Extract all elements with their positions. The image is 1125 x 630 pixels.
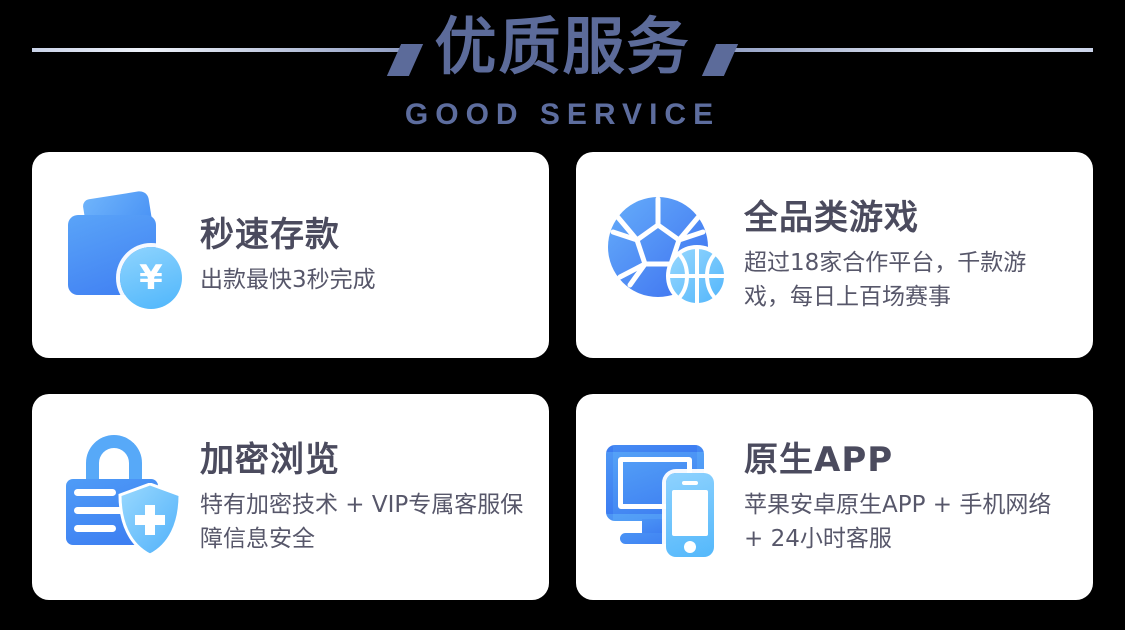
feature-card-encrypted-browsing[interactable]: 加密浏览 特有加密技术 + VIP专属客服保障信息安全	[32, 394, 549, 600]
card-text-block: 秒速存款 出款最快3秒完成	[200, 213, 527, 297]
card-title: 全品类游戏	[744, 196, 1071, 240]
good-service-panel: 优质服务 GOOD SERVICE ¥ 秒速存款 出款最快3秒完成	[0, 0, 1125, 630]
feature-card-grid: ¥ 秒速存款 出款最快3秒完成	[32, 152, 1093, 600]
card-description: 苹果安卓原生APP + 手机网络 + 24小时客服	[744, 488, 1071, 556]
soccer-ball-icon	[604, 189, 736, 321]
card-title: 秒速存款	[200, 213, 527, 257]
yen-coin-icon: ¥	[120, 247, 182, 309]
phone-speaker-shape	[682, 481, 698, 485]
card-description: 特有加密技术 + VIP专属客服保障信息安全	[200, 488, 527, 556]
smartphone-shape	[666, 473, 714, 557]
page-subtitle: GOOD SERVICE	[0, 98, 1125, 132]
phone-home-button-shape	[684, 541, 696, 553]
header: 优质服务 GOOD SERVICE	[0, 0, 1125, 148]
card-text-block: 全品类游戏 超过18家合作平台，千款游戏，每日上百场赛事	[744, 196, 1071, 314]
card-text-block: 原生APP 苹果安卓原生APP + 手机网络 + 24小时客服	[744, 438, 1071, 556]
lock-slot-line	[74, 489, 116, 496]
basketball-shape	[666, 245, 728, 307]
yen-symbol: ¥	[139, 261, 163, 295]
monitor-phone-icon	[604, 431, 736, 563]
card-text-block: 加密浏览 特有加密技术 + VIP专属客服保障信息安全	[200, 438, 527, 556]
card-title: 原生APP	[744, 438, 1071, 482]
phone-screen-shape	[672, 490, 708, 536]
lock-shield-icon	[60, 431, 192, 563]
lock-slot-line	[74, 525, 116, 532]
feature-card-all-games[interactable]: 全品类游戏 超过18家合作平台，千款游戏，每日上百场赛事	[576, 152, 1093, 358]
card-description: 超过18家合作平台，千款游戏，每日上百场赛事	[744, 246, 1071, 314]
card-description: 出款最快3秒完成	[200, 263, 527, 297]
feature-card-instant-deposit[interactable]: ¥ 秒速存款 出款最快3秒完成	[32, 152, 549, 358]
page-title: 优质服务	[0, 6, 1125, 88]
shield-cross-icon	[118, 483, 182, 557]
feature-card-native-app[interactable]: 原生APP 苹果安卓原生APP + 手机网络 + 24小时客服	[576, 394, 1093, 600]
card-title: 加密浏览	[200, 438, 527, 482]
wallet-icon: ¥	[60, 189, 192, 321]
